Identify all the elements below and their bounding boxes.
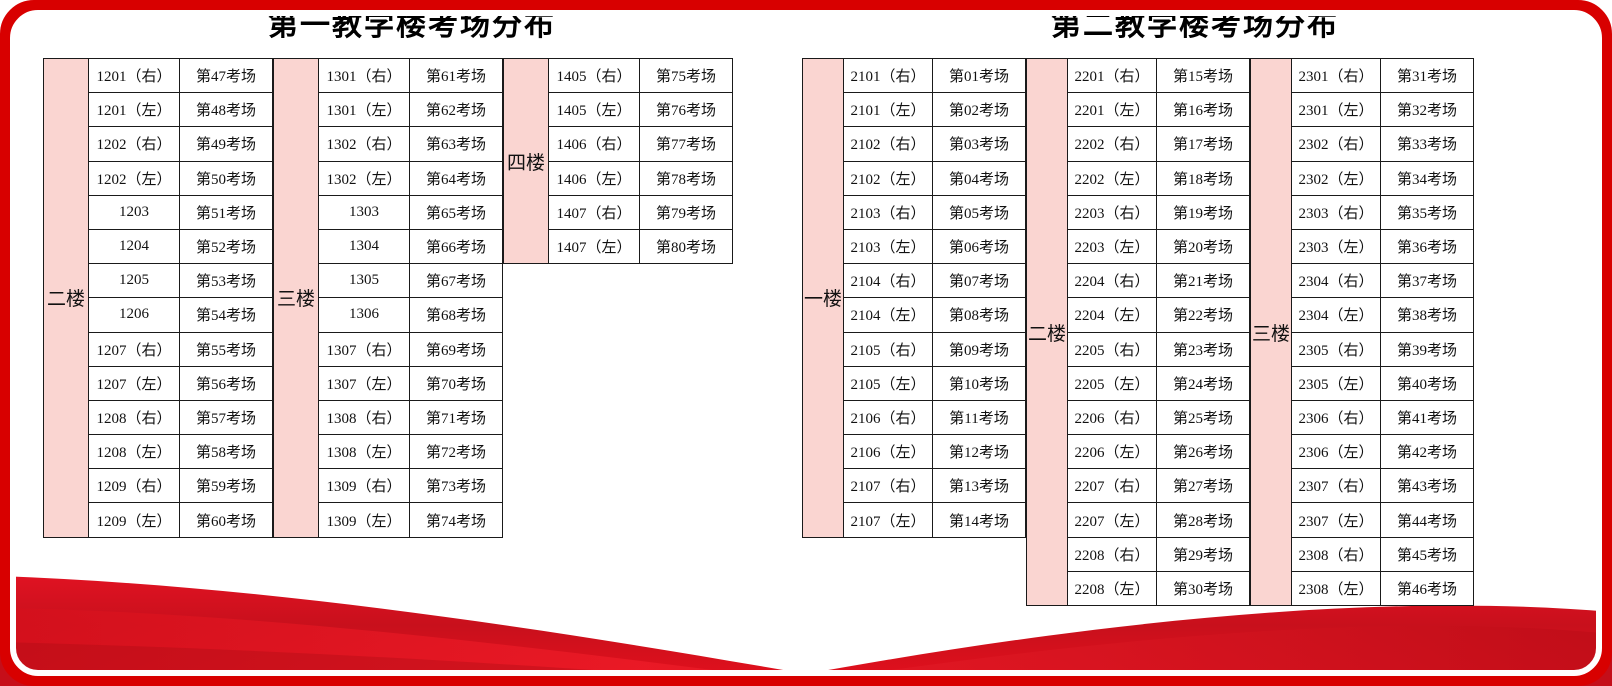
table-row: 2101（右）第01考场 (844, 59, 1026, 92)
table-row: 1407（右）第79考场 (549, 195, 732, 229)
table-row: 2201（右）第15考场 (1068, 59, 1250, 92)
table-row: 2104（左）第08考场 (844, 297, 1026, 331)
room-number-cell: 2303（左） (1292, 230, 1381, 263)
table-row: 2303（右）第35考场 (1292, 195, 1473, 229)
table-row: 1207（左）第56考场 (89, 366, 273, 400)
table-row: 1301（右）第61考场 (319, 59, 503, 92)
room-number-cell: 2306（左） (1292, 435, 1381, 468)
table-row: 1301（左）第62考场 (319, 92, 503, 126)
floor-label: 一楼 (803, 59, 844, 537)
exam-room-cell: 第31考场 (1381, 59, 1473, 92)
exam-room-cell: 第48考场 (180, 93, 273, 126)
room-number-cell: 2203（左） (1068, 230, 1157, 263)
exam-room-cell: 第33考场 (1381, 127, 1473, 160)
exam-room-cell: 第62考场 (410, 93, 503, 126)
floor-label: 二楼 (1027, 59, 1068, 605)
room-number-cell: 1405（右） (549, 59, 640, 92)
exam-room-cell: 第23考场 (1157, 333, 1250, 366)
room-number-cell: 1209（右） (89, 469, 180, 502)
room-number-cell: 2301（左） (1292, 93, 1381, 126)
room-number-cell: 2303（右） (1292, 196, 1381, 229)
exam-room-cell: 第05考场 (933, 196, 1026, 229)
room-number-cell: 1204 (89, 230, 180, 263)
exam-room-cell: 第73考场 (410, 469, 503, 502)
floor-label: 三楼 (274, 59, 319, 537)
exam-room-cell: 第52考场 (180, 230, 273, 263)
table-row: 1307（左）第70考场 (319, 366, 503, 400)
table-row: 2202（左）第18考场 (1068, 161, 1250, 195)
table-row: 2207（左）第28考场 (1068, 502, 1250, 536)
room-number-cell: 2102（右） (844, 127, 933, 160)
floor-rows: 2301（右）第31考场2301（左）第32考场2302（右）第33考场2302… (1292, 59, 1473, 605)
room-number-cell: 2206（左） (1068, 435, 1157, 468)
room-number-cell: 1301（左） (319, 93, 410, 126)
table-row: 2207（右）第27考场 (1068, 468, 1250, 502)
table-row: 2306（左）第42考场 (1292, 434, 1473, 468)
room-number-cell: 1407（右） (549, 196, 640, 229)
exam-room-cell: 第76考场 (640, 93, 732, 126)
room-number-cell: 2102（左） (844, 162, 933, 195)
room-number-cell: 2302（右） (1292, 127, 1381, 160)
table-row: 1209（左）第60考场 (89, 502, 273, 536)
room-number-cell: 2208（左） (1068, 572, 1157, 605)
exam-room-cell: 第28考场 (1157, 503, 1250, 536)
room-number-cell: 1308（左） (319, 435, 410, 468)
room-number-cell: 2306（右） (1292, 401, 1381, 434)
room-number-cell: 2205（右） (1068, 333, 1157, 366)
room-number-cell: 1309（左） (319, 503, 410, 536)
table-row: 2306（右）第41考场 (1292, 400, 1473, 434)
exam-room-cell: 第47考场 (180, 59, 273, 92)
exam-room-cell: 第60考场 (180, 503, 273, 536)
exam-room-cell: 第43考场 (1381, 469, 1473, 502)
table-row: 2208（左）第30考场 (1068, 571, 1250, 605)
room-number-cell: 2207（左） (1068, 503, 1157, 536)
room-number-cell: 2103（右） (844, 196, 933, 229)
exam-room-cell: 第16考场 (1157, 93, 1250, 126)
room-number-cell: 2204（左） (1068, 298, 1157, 331)
table-row: 2308（右）第45考场 (1292, 537, 1473, 571)
exam-room-cell: 第53考场 (180, 264, 273, 297)
exam-room-cell: 第15考场 (1157, 59, 1250, 92)
exam-room-cell: 第08考场 (933, 298, 1026, 331)
floor-group-3: 四楼1405（右）第75考场1405（左）第76考场1406（右）第77考场14… (503, 58, 733, 264)
floor-group-1: 一楼2101（右）第01考场2101（左）第02考场2102（右）第03考场21… (802, 58, 1026, 538)
room-number-cell: 1309（右） (319, 469, 410, 502)
table-row: 2203（左）第20考场 (1068, 229, 1250, 263)
room-number-cell: 1302（右） (319, 127, 410, 160)
room-number-cell: 1405（左） (549, 93, 640, 126)
room-number-cell: 2304（左） (1292, 298, 1381, 331)
room-number-cell: 2205（左） (1068, 367, 1157, 400)
table-row: 2208（右）第29考场 (1068, 537, 1250, 571)
table-row: 1208（右）第57考场 (89, 400, 273, 434)
table-row: 2301（右）第31考场 (1292, 59, 1473, 92)
room-number-cell: 1206 (89, 298, 180, 331)
exam-room-cell: 第06考场 (933, 230, 1026, 263)
exam-room-cell: 第32考场 (1381, 93, 1473, 126)
exam-room-cell: 第49考场 (180, 127, 273, 160)
room-number-cell: 1302（左） (319, 162, 410, 195)
exam-room-cell: 第34考场 (1381, 162, 1473, 195)
exam-room-cell: 第51考场 (180, 196, 273, 229)
room-number-cell: 2304（右） (1292, 264, 1381, 297)
table-row: 1202（左）第50考场 (89, 161, 273, 195)
room-number-cell: 1202（右） (89, 127, 180, 160)
exam-room-cell: 第65考场 (410, 196, 503, 229)
table-row: 2103（右）第05考场 (844, 195, 1026, 229)
exam-room-cell: 第72考场 (410, 435, 503, 468)
table-row: 2204（右）第21考场 (1068, 263, 1250, 297)
table-row: 1405（右）第75考场 (549, 59, 732, 92)
room-number-cell: 2307（左） (1292, 503, 1381, 536)
room-number-cell: 1207（右） (89, 333, 180, 366)
exam-room-cell: 第22考场 (1157, 298, 1250, 331)
exam-room-cell: 第03考场 (933, 127, 1026, 160)
room-number-cell: 2202（左） (1068, 162, 1157, 195)
exam-room-cell: 第77考场 (640, 127, 732, 160)
room-number-cell: 2208（右） (1068, 538, 1157, 571)
room-number-cell: 2107（右） (844, 469, 933, 502)
room-number-cell: 1304 (319, 230, 410, 263)
room-number-cell: 2107（左） (844, 503, 933, 536)
exam-room-cell: 第13考场 (933, 469, 1026, 502)
room-number-cell: 2203（右） (1068, 196, 1157, 229)
table-row: 1305第67考场 (319, 263, 503, 297)
exam-room-cell: 第21考场 (1157, 264, 1250, 297)
room-number-cell: 1205 (89, 264, 180, 297)
exam-room-cell: 第63考场 (410, 127, 503, 160)
exam-room-cell: 第78考场 (640, 162, 732, 195)
table-row: 1209（右）第59考场 (89, 468, 273, 502)
building-1-block: 第一教学楼考场分布 二楼1201（右）第47考场1201（左）第48考场1202… (20, 8, 780, 538)
floor-group-3: 三楼2301（右）第31考场2301（左）第32考场2302（右）第33考场23… (1250, 58, 1474, 606)
exam-room-cell: 第27考场 (1157, 469, 1250, 502)
room-number-cell: 2307（右） (1292, 469, 1381, 502)
exam-room-cell: 第50考场 (180, 162, 273, 195)
room-number-cell: 1303 (319, 196, 410, 229)
floor-rows: 2201（右）第15考场2201（左）第16考场2202（右）第17考场2202… (1068, 59, 1250, 605)
room-number-cell: 1202（左） (89, 162, 180, 195)
table-row: 2304（右）第37考场 (1292, 263, 1473, 297)
exam-room-cell: 第69考场 (410, 333, 503, 366)
table-row: 2105（右）第09考场 (844, 332, 1026, 366)
table-row: 2106（右）第11考场 (844, 400, 1026, 434)
exam-room-cell: 第67考场 (410, 264, 503, 297)
table-row: 1309（左）第74考场 (319, 502, 503, 536)
table-row: 1203第51考场 (89, 195, 273, 229)
room-number-cell: 2106（右） (844, 401, 933, 434)
table-row: 2307（右）第43考场 (1292, 468, 1473, 502)
table-row: 2205（左）第24考场 (1068, 366, 1250, 400)
table-row: 2305（右）第39考场 (1292, 332, 1473, 366)
exam-room-cell: 第07考场 (933, 264, 1026, 297)
table-row: 2304（左）第38考场 (1292, 297, 1473, 331)
room-number-cell: 1407（左） (549, 230, 640, 263)
table-row: 1205第53考场 (89, 263, 273, 297)
exam-room-cell: 第35考场 (1381, 196, 1473, 229)
exam-room-cell: 第01考场 (933, 59, 1026, 92)
exam-room-cell: 第71考场 (410, 401, 503, 434)
floor-rows: 1301（右）第61考场1301（左）第62考场1302（右）第63考场1302… (319, 59, 503, 537)
table-row: 2308（左）第46考场 (1292, 571, 1473, 605)
table-row: 2201（左）第16考场 (1068, 92, 1250, 126)
exam-room-cell: 第39考场 (1381, 333, 1473, 366)
room-number-cell: 2302（左） (1292, 162, 1381, 195)
floor-rows: 1201（右）第47考场1201（左）第48考场1202（右）第49考场1202… (89, 59, 273, 537)
exam-room-cell: 第56考场 (180, 367, 273, 400)
exam-room-cell: 第44考场 (1381, 503, 1473, 536)
exam-room-distribution-poster: 第一教学楼考场分布 二楼1201（右）第47考场1201（左）第48考场1202… (0, 0, 1612, 686)
exam-room-cell: 第64考场 (410, 162, 503, 195)
room-number-cell: 1307（左） (319, 367, 410, 400)
table-row: 2302（左）第34考场 (1292, 161, 1473, 195)
table-row: 2206（左）第26考场 (1068, 434, 1250, 468)
floor-rows: 1405（右）第75考场1405（左）第76考场1406（右）第77考场1406… (549, 59, 732, 263)
exam-room-cell: 第57考场 (180, 401, 273, 434)
room-number-cell: 2308（右） (1292, 538, 1381, 571)
table-row: 1201（左）第48考场 (89, 92, 273, 126)
exam-room-cell: 第68考场 (410, 298, 503, 331)
room-number-cell: 1203 (89, 196, 180, 229)
table-row: 1206第54考场 (89, 297, 273, 331)
table-row: 1207（右）第55考场 (89, 332, 273, 366)
exam-room-cell: 第25考场 (1157, 401, 1250, 434)
room-number-cell: 2103（左） (844, 230, 933, 263)
room-number-cell: 2207（右） (1068, 469, 1157, 502)
room-number-cell: 2301（右） (1292, 59, 1381, 92)
table-row: 1308（右）第71考场 (319, 400, 503, 434)
floor-group-2: 三楼1301（右）第61考场1301（左）第62考场1302（右）第63考场13… (273, 58, 503, 538)
room-number-cell: 1406（左） (549, 162, 640, 195)
exam-room-cell: 第42考场 (1381, 435, 1473, 468)
room-number-cell: 1209（左） (89, 503, 180, 536)
table-row: 1208（左）第58考场 (89, 434, 273, 468)
building-2-title: 第二教学楼考场分布 (790, 8, 1590, 44)
table-row: 2102（右）第03考场 (844, 126, 1026, 160)
room-number-cell: 2206（右） (1068, 401, 1157, 434)
table-row: 1309（右）第73考场 (319, 468, 503, 502)
table-row: 1407（左）第80考场 (549, 229, 732, 263)
exam-room-cell: 第54考场 (180, 298, 273, 331)
room-number-cell: 2101（右） (844, 59, 933, 92)
table-row: 2203（右）第19考场 (1068, 195, 1250, 229)
table-row: 2307（左）第44考场 (1292, 502, 1473, 536)
room-number-cell: 1306 (319, 298, 410, 331)
table-row: 2302（右）第33考场 (1292, 126, 1473, 160)
table-row: 1405（左）第76考场 (549, 92, 732, 126)
room-number-cell: 2106（左） (844, 435, 933, 468)
room-number-cell: 2101（左） (844, 93, 933, 126)
exam-room-cell: 第29考场 (1157, 538, 1250, 571)
table-row: 1306第68考场 (319, 297, 503, 331)
room-number-cell: 2104（左） (844, 298, 933, 331)
table-row: 2104（右）第07考场 (844, 263, 1026, 297)
table-row: 1307（右）第69考场 (319, 332, 503, 366)
exam-room-cell: 第14考场 (933, 503, 1026, 536)
exam-room-cell: 第18考场 (1157, 162, 1250, 195)
exam-room-cell: 第70考场 (410, 367, 503, 400)
table-row: 1303第65考场 (319, 195, 503, 229)
table-row: 1302（右）第63考场 (319, 126, 503, 160)
room-number-cell: 2201（左） (1068, 93, 1157, 126)
table-row: 1302（左）第64考场 (319, 161, 503, 195)
exam-room-cell: 第79考场 (640, 196, 732, 229)
table-row: 2107（右）第13考场 (844, 468, 1026, 502)
room-number-cell: 2105（左） (844, 367, 933, 400)
room-number-cell: 2105（右） (844, 333, 933, 366)
exam-room-cell: 第45考场 (1381, 538, 1473, 571)
exam-room-cell: 第02考场 (933, 93, 1026, 126)
room-number-cell: 2308（左） (1292, 572, 1381, 605)
table-row: 2105（左）第10考场 (844, 366, 1026, 400)
exam-room-cell: 第58考场 (180, 435, 273, 468)
exam-room-cell: 第24考场 (1157, 367, 1250, 400)
table-row: 2303（左）第36考场 (1292, 229, 1473, 263)
exam-room-cell: 第61考场 (410, 59, 503, 92)
table-row: 2103（左）第06考场 (844, 229, 1026, 263)
exam-room-cell: 第55考场 (180, 333, 273, 366)
exam-room-cell: 第66考场 (410, 230, 503, 263)
exam-room-cell: 第10考场 (933, 367, 1026, 400)
table-row: 1406（右）第77考场 (549, 126, 732, 160)
table-row: 1304第66考场 (319, 229, 503, 263)
exam-room-cell: 第80考场 (640, 230, 732, 263)
table-row: 1308（左）第72考场 (319, 434, 503, 468)
floor-group-2: 二楼2201（右）第15考场2201（左）第16考场2202（右）第17考场22… (1026, 58, 1250, 606)
table-row: 2101（左）第02考场 (844, 92, 1026, 126)
building-2-block: 第二教学楼考场分布 一楼2101（右）第01考场2101（左）第02考场2102… (790, 8, 1590, 606)
room-number-cell: 1208（右） (89, 401, 180, 434)
room-number-cell: 1201（右） (89, 59, 180, 92)
table-row: 2305（左）第40考场 (1292, 366, 1473, 400)
building-2-floors: 一楼2101（右）第01考场2101（左）第02考场2102（右）第03考场21… (790, 58, 1590, 606)
exam-room-cell: 第11考场 (933, 401, 1026, 434)
room-number-cell: 1301（右） (319, 59, 410, 92)
exam-room-cell: 第38考场 (1381, 298, 1473, 331)
floor-label: 三楼 (1251, 59, 1292, 605)
exam-room-cell: 第12考场 (933, 435, 1026, 468)
exam-room-cell: 第41考场 (1381, 401, 1473, 434)
room-number-cell: 1207（左） (89, 367, 180, 400)
exam-room-cell: 第36考场 (1381, 230, 1473, 263)
room-number-cell: 2201（右） (1068, 59, 1157, 92)
room-number-cell: 1305 (319, 264, 410, 297)
floor-label: 二楼 (44, 59, 89, 537)
floor-rows: 2101（右）第01考场2101（左）第02考场2102（右）第03考场2102… (844, 59, 1026, 537)
exam-room-cell: 第19考场 (1157, 196, 1250, 229)
exam-room-cell: 第40考场 (1381, 367, 1473, 400)
exam-room-cell: 第59考场 (180, 469, 273, 502)
floor-label: 四楼 (504, 59, 549, 263)
exam-room-cell: 第17考场 (1157, 127, 1250, 160)
building-1-floors: 二楼1201（右）第47考场1201（左）第48考场1202（右）第49考场12… (20, 58, 780, 538)
exam-room-cell: 第46考场 (1381, 572, 1473, 605)
table-row: 2107（左）第14考场 (844, 502, 1026, 536)
room-number-cell: 2204（右） (1068, 264, 1157, 297)
building-1-title: 第一教学楼考场分布 (20, 8, 780, 44)
room-number-cell: 1201（左） (89, 93, 180, 126)
floor-group-1: 二楼1201（右）第47考场1201（左）第48考场1202（右）第49考场12… (43, 58, 273, 538)
exam-room-cell: 第20考场 (1157, 230, 1250, 263)
table-row: 1204第52考场 (89, 229, 273, 263)
exam-room-cell: 第30考场 (1157, 572, 1250, 605)
table-row: 2202（右）第17考场 (1068, 126, 1250, 160)
table-row: 2205（右）第23考场 (1068, 332, 1250, 366)
room-number-cell: 2305（右） (1292, 333, 1381, 366)
table-row: 2206（右）第25考场 (1068, 400, 1250, 434)
exam-room-cell: 第74考场 (410, 503, 503, 536)
room-number-cell: 2202（右） (1068, 127, 1157, 160)
exam-room-cell: 第26考场 (1157, 435, 1250, 468)
room-number-cell: 2104（右） (844, 264, 933, 297)
table-row: 2106（左）第12考场 (844, 434, 1026, 468)
table-row: 2301（左）第32考场 (1292, 92, 1473, 126)
table-row: 1202（右）第49考场 (89, 126, 273, 160)
exam-room-cell: 第04考场 (933, 162, 1026, 195)
table-row: 2204（左）第22考场 (1068, 297, 1250, 331)
room-number-cell: 1208（左） (89, 435, 180, 468)
table-row: 1201（右）第47考场 (89, 59, 273, 92)
room-number-cell: 2305（左） (1292, 367, 1381, 400)
room-number-cell: 1308（右） (319, 401, 410, 434)
room-number-cell: 1307（右） (319, 333, 410, 366)
exam-room-cell: 第75考场 (640, 59, 732, 92)
room-number-cell: 1406（右） (549, 127, 640, 160)
exam-room-cell: 第37考场 (1381, 264, 1473, 297)
exam-room-cell: 第09考场 (933, 333, 1026, 366)
table-row: 1406（左）第78考场 (549, 161, 732, 195)
table-row: 2102（左）第04考场 (844, 161, 1026, 195)
